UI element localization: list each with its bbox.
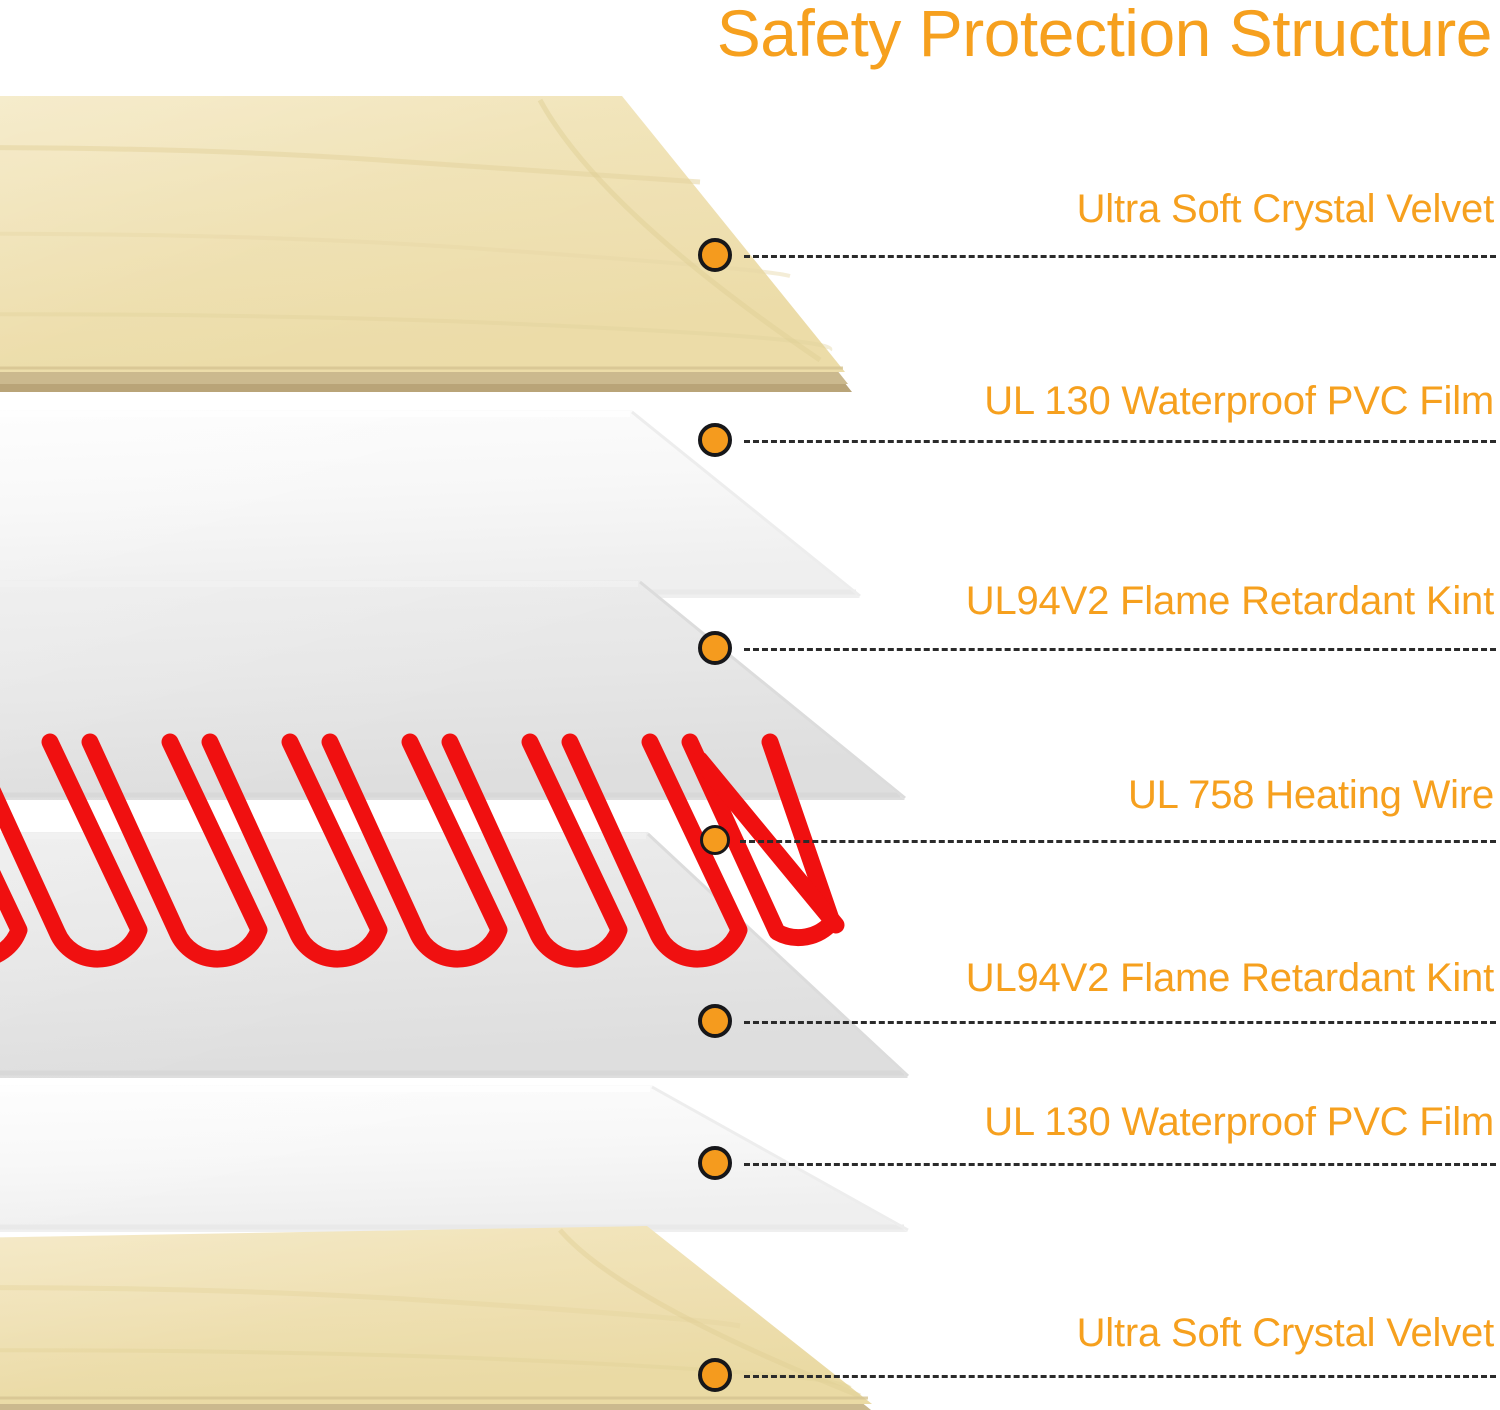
callout-marker-2[interactable] [698, 423, 732, 457]
layer-pvc-film-bottom [0, 1085, 908, 1232]
layer-label-ul94v2-flame-retardant-knit-bottom: UL94V2 Flame Retardant Kint [966, 955, 1494, 1001]
layer-label-ul130-waterproof-pvc-film-bottom: UL 130 Waterproof PVC Film [984, 1099, 1494, 1145]
page-title: Safety Protection Structure [0, 0, 1500, 72]
layer-velvet-bottom [0, 1226, 880, 1410]
callout-marker-3[interactable] [698, 631, 732, 665]
leader-line-5 [744, 1021, 1496, 1024]
leader-line-4 [740, 840, 1496, 843]
callout-marker-4[interactable] [700, 825, 730, 855]
layer-label-ultra-soft-crystal-velvet-top: Ultra Soft Crystal Velvet [1077, 186, 1494, 232]
callout-marker-5[interactable] [698, 1004, 732, 1038]
leader-line-6 [744, 1163, 1496, 1166]
layer-label-ul130-waterproof-pvc-film-top: UL 130 Waterproof PVC Film [984, 378, 1494, 424]
leader-line-2 [744, 440, 1496, 443]
callout-marker-6[interactable] [698, 1146, 732, 1180]
leader-line-7 [744, 1375, 1496, 1378]
layer-label-ul758-heating-wire: UL 758 Heating Wire [1128, 772, 1494, 818]
callout-marker-1[interactable] [698, 238, 732, 272]
leader-line-3 [744, 648, 1496, 651]
safety-protection-structure-diagram: Safety Protection Structure Ultra Soft C… [0, 0, 1500, 1410]
layer-label-ul94v2-flame-retardant-knit-top: UL94V2 Flame Retardant Kint [966, 578, 1494, 624]
leader-line-1 [744, 255, 1496, 258]
layer-label-ultra-soft-crystal-velvet-bottom: Ultra Soft Crystal Velvet [1077, 1310, 1494, 1356]
callout-marker-7[interactable] [698, 1358, 732, 1392]
